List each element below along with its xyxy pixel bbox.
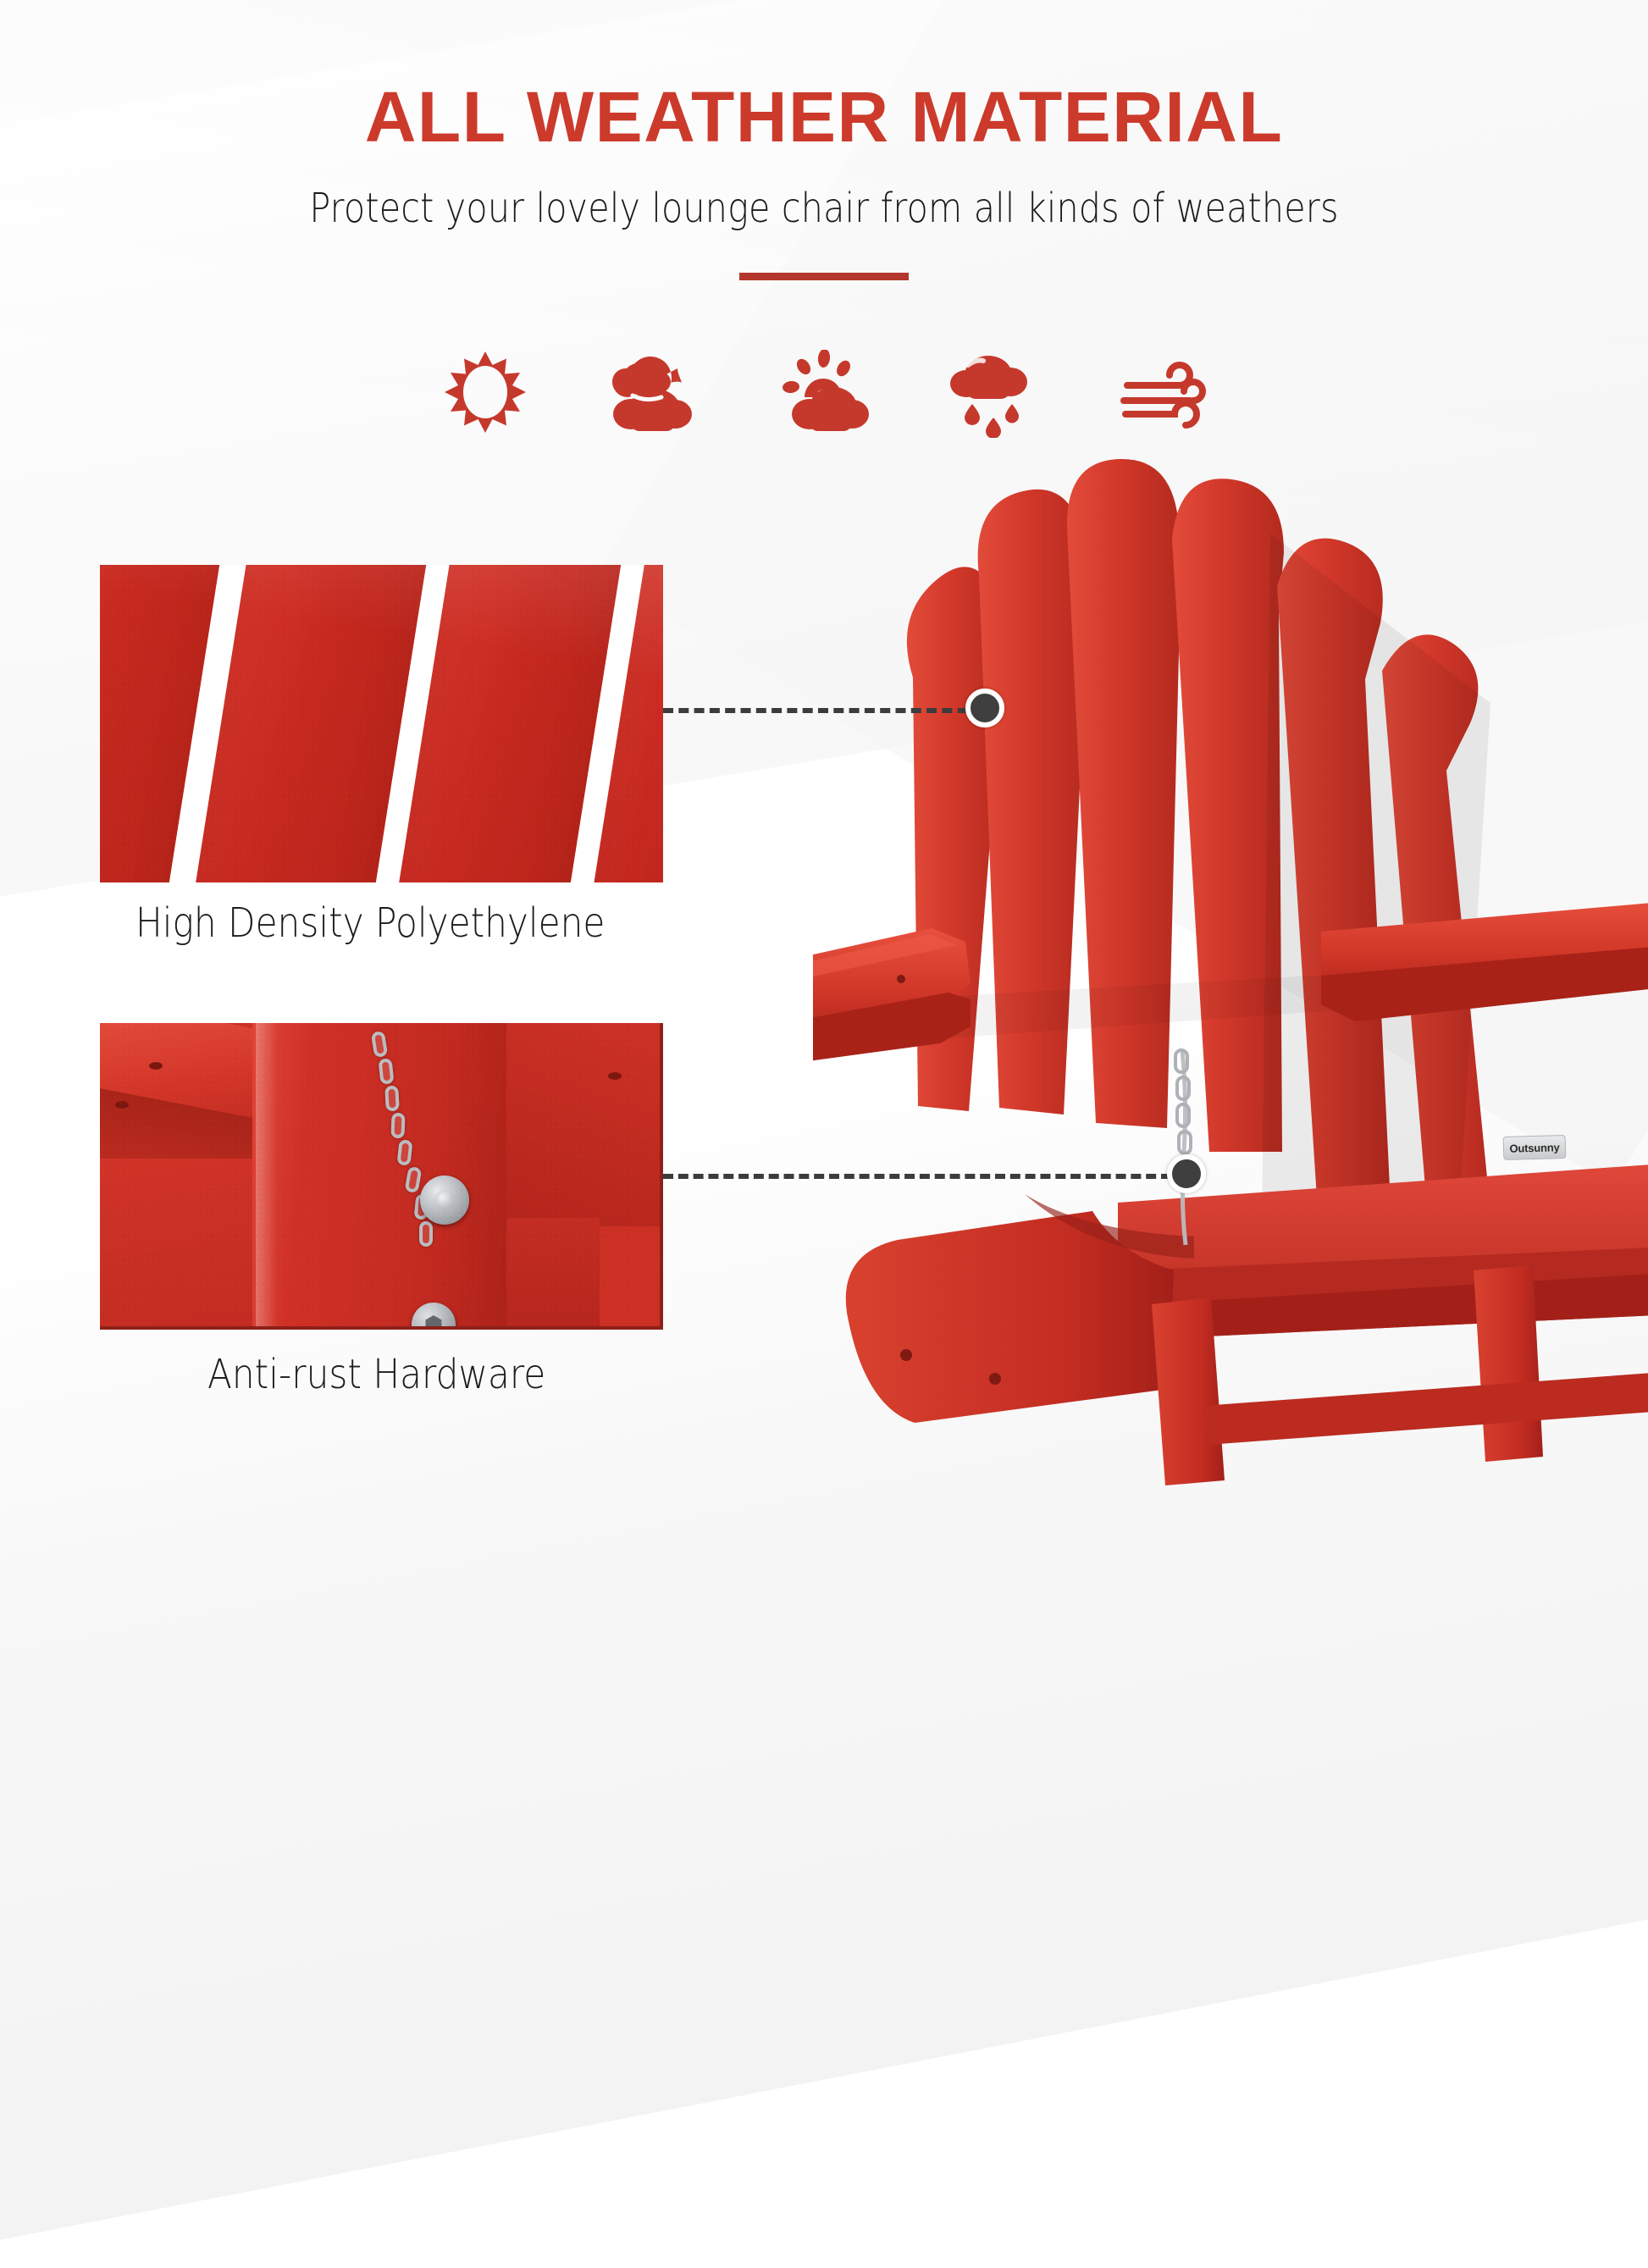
rain-cloud-icon xyxy=(943,346,1044,439)
brand-badge-label: Outsunny xyxy=(1509,1141,1559,1155)
wind-icon xyxy=(1112,346,1214,439)
detail-panel-hardware xyxy=(100,1023,663,1330)
callout-line-hdpe xyxy=(663,708,983,713)
callout-dot-hardware xyxy=(1167,1154,1206,1193)
chain-link xyxy=(378,1058,394,1085)
pivot-bolt xyxy=(420,1175,469,1225)
chain-link xyxy=(390,1113,405,1139)
cloud-icon xyxy=(604,346,705,439)
caption-hardware: Anti-rust Hardware xyxy=(207,1351,545,1398)
callout-dot-hdpe xyxy=(965,689,1004,727)
page-subtitle: Protect your lovely lounge chair from al… xyxy=(115,185,1533,232)
callout-line-hardware xyxy=(663,1174,1171,1179)
header: ALL WEATHER MATERIAL Protect your lovely… xyxy=(0,0,1648,280)
title-divider xyxy=(739,273,909,280)
chain-link xyxy=(419,1221,433,1247)
product-image-adirondack-chair xyxy=(813,457,1648,1491)
weather-icon-row xyxy=(0,346,1648,439)
chain-and-bolt-closeup xyxy=(100,1023,660,1326)
brand-badge: Outsunny xyxy=(1503,1135,1567,1160)
hdpe-slats-closeup xyxy=(100,565,663,882)
sun-icon xyxy=(434,346,536,439)
detail-panel-hdpe xyxy=(100,565,663,882)
page-title: ALL WEATHER MATERIAL xyxy=(0,81,1648,152)
caption-hdpe: High Density Polyethylene xyxy=(135,899,605,947)
chain-link xyxy=(384,1086,400,1112)
partly-cloudy-icon xyxy=(773,346,875,439)
